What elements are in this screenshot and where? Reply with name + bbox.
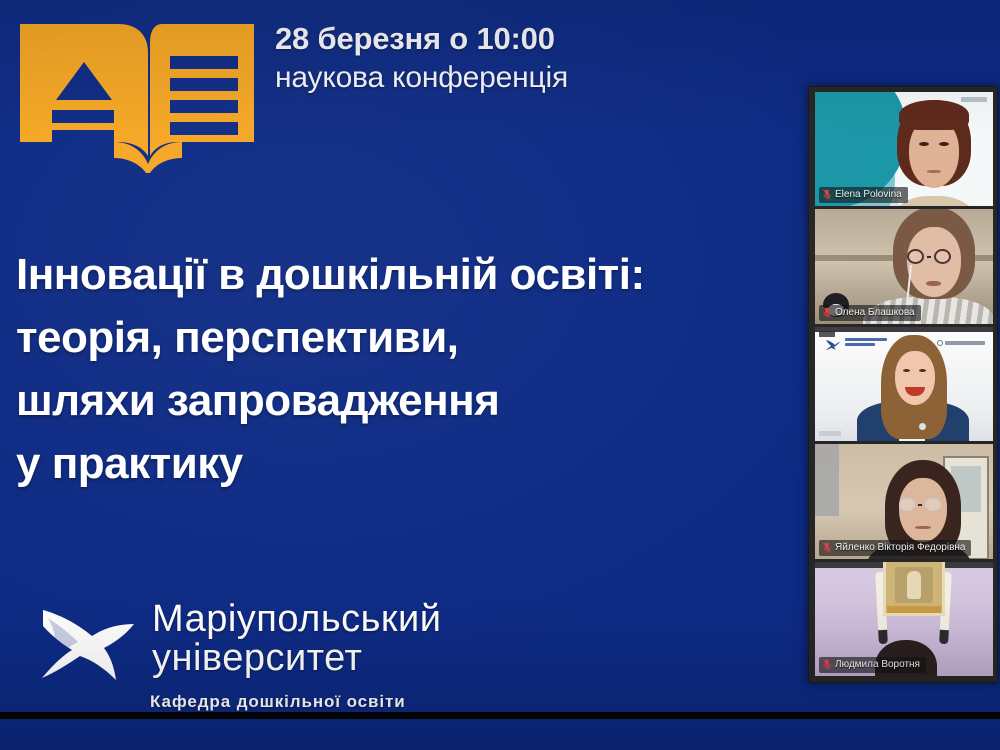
event-datetime: 28 березня о 10:00 (275, 20, 755, 58)
dove-bird-icon (34, 604, 140, 686)
person-fringe (899, 100, 969, 130)
participant-name-badge: Elena Polovina (819, 187, 908, 203)
mic-muted-icon (823, 307, 831, 318)
mic-muted-icon (823, 659, 831, 670)
event-type: наукова конференція (275, 58, 755, 98)
participant-video-feed (815, 327, 993, 441)
slide-bottom-seam (0, 712, 1000, 719)
page-title: Інновації в дошкільній освіті: теорія, п… (16, 243, 806, 495)
title-line-4: у практику (16, 432, 806, 495)
dove-bird-icon (825, 339, 841, 351)
person-eye-left (919, 142, 929, 146)
eyeglasses-icon (907, 249, 951, 264)
conference-announcement-poster: 28 березня о 10:00 наукова конференція І… (0, 0, 1000, 750)
participant-name: Яйленко Вікторія Федорівна (835, 541, 965, 554)
participant-tile[interactable]: Олена Блашкова (815, 209, 993, 323)
mic-muted-icon (823, 542, 831, 553)
towel-band (887, 606, 941, 613)
participant-name-badge: Яйленко Вікторія Федорівна (819, 540, 971, 556)
at-symbol-icon (937, 340, 943, 346)
screen-sticker (819, 431, 841, 436)
person-eye-right (939, 142, 949, 146)
event-header: 28 березня о 10:00 наукова конференція (275, 20, 755, 98)
department-name: Кафедра дошкільної освіти (150, 692, 406, 712)
participant-name: Elena Polovina (835, 188, 902, 201)
participant-name-badge: Олена Блашкова (819, 305, 921, 321)
university-name-line-1: Маріупольський (152, 600, 442, 639)
person-mouth (927, 170, 941, 173)
university-watermark (845, 338, 887, 348)
title-line-1: Інновації в дошкільній освіті: (16, 243, 806, 306)
university-name: Маріупольський університет (152, 600, 442, 678)
video-participants-panel[interactable]: Elena Polovina (808, 86, 998, 683)
participant-name: Людмила Воротня (835, 658, 920, 671)
title-line-2: теорія, перспективи, (16, 306, 806, 369)
participant-name: Олена Блашкова (835, 306, 915, 319)
participant-tile[interactable] (815, 327, 993, 441)
participant-tile[interactable]: Яйленко Вікторія Федорівна (815, 444, 993, 558)
university-logo-lockup: Маріупольський університет (34, 600, 442, 686)
participant-tile[interactable]: Людмила Воротня (815, 562, 993, 676)
corner-watermark (961, 97, 987, 102)
eyeglasses-icon (899, 498, 941, 511)
person-face (895, 351, 935, 405)
participant-name-badge: Людмила Воротня (819, 657, 926, 673)
lapel-pin (919, 423, 926, 430)
person-eye-right (919, 369, 926, 372)
open-book-icon (14, 18, 260, 173)
mic-muted-icon (823, 189, 831, 200)
university-name-line-2: університет (152, 639, 442, 678)
website-watermark (945, 341, 985, 345)
video-toolbar-edge (815, 327, 993, 332)
title-line-3: шляхи запровадження (16, 369, 806, 432)
person-eye-left (903, 369, 910, 372)
participant-tile[interactable]: Elena Polovina (815, 92, 993, 206)
